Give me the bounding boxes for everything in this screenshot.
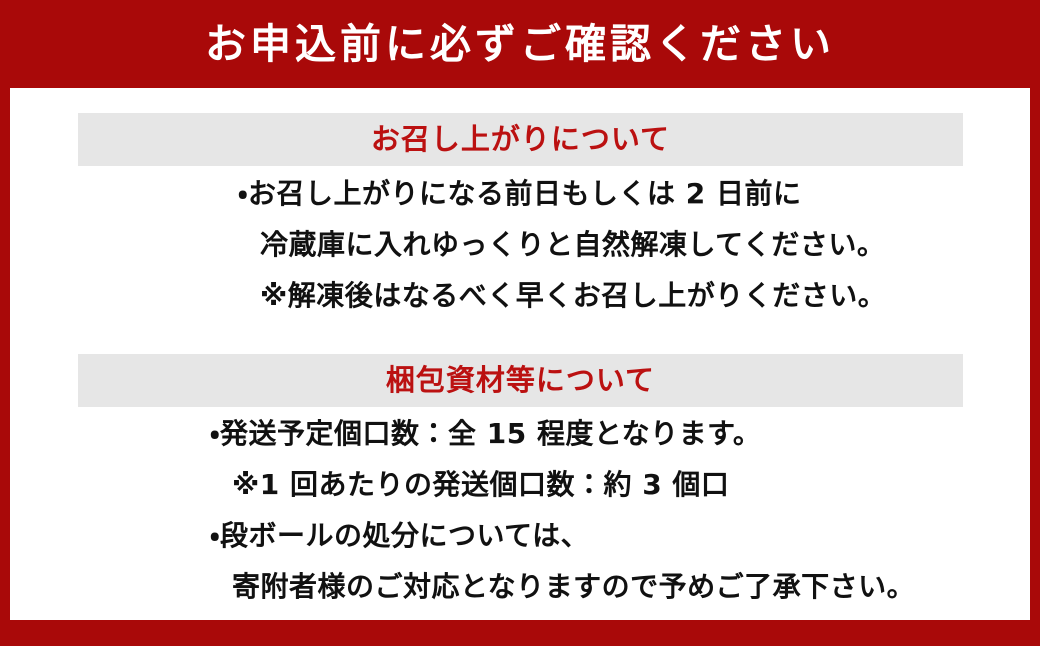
notice-line: 寄附者様のご対応となりますので予めご了承下さい。 [210,561,915,612]
section-body-eating: ・お召し上がりになる前日もしくは 2 日前に 冷蔵庫に入れゆっくりと自然解凍して… [238,168,886,321]
section-heading-packaging: 梱包資材等について [386,366,655,395]
notice-line: ・段ボールの処分については、 [210,510,915,561]
banner-header: お申込前に必ずご確認ください [0,0,1040,88]
content-panel: お召し上がりについて ・お召し上がりになる前日もしくは 2 日前に 冷蔵庫に入れ… [10,88,1030,620]
notice-line: ・お召し上がりになる前日もしくは 2 日前に [238,168,886,219]
notice-line: 冷蔵庫に入れゆっくりと自然解凍してください。 [238,219,886,270]
notice-line: ・発送予定個口数：全 15 程度となります。 [210,408,915,459]
notice-line: ※1 回あたりの発送個口数：約 3 個口 [210,459,915,510]
section-header-bar-eating: お召し上がりについて [78,113,963,166]
banner-title: お申込前に必ずご確認ください [205,24,835,65]
notice-line: ※解凍後はなるべく早くお召し上がりください。 [238,270,886,321]
section-heading-eating: お召し上がりについて [371,125,670,154]
section-body-packaging: ・発送予定個口数：全 15 程度となります。 ※1 回あたりの発送個口数：約 3… [210,408,915,612]
notice-banner: お申込前に必ずご確認ください お召し上がりについて ・お召し上がりになる前日もし… [0,0,1040,646]
banner-bottom-band [0,620,1040,646]
section-header-bar-packaging: 梱包資材等について [78,354,963,407]
